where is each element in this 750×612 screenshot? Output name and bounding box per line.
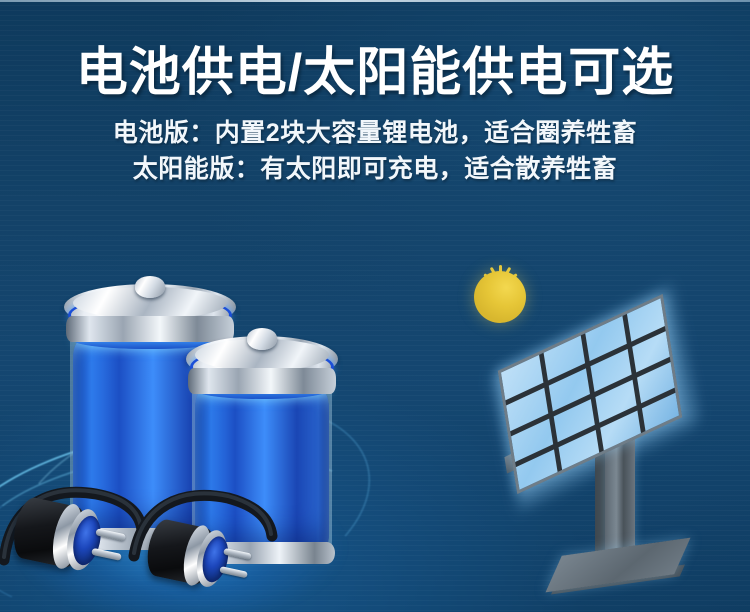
cap-collar xyxy=(188,368,336,394)
battery-small-cap xyxy=(186,330,338,392)
sun-disc xyxy=(474,271,526,323)
subtitle-solar-version: 太阳能版：有太阳即可充电，适合散养牲畜 xyxy=(0,152,750,188)
sun-icon xyxy=(455,252,545,342)
solar-panel-icon xyxy=(495,330,730,595)
battery-terminal-nub xyxy=(247,328,277,350)
subtitle-battery-version: 电池版：内置2块大容量锂电池，适合圈养牲畜 xyxy=(0,102,750,152)
poster-text-block: 电池供电/太阳能供电可选 电池版：内置2块大容量锂电池，适合圈养牲畜 太阳能版：… xyxy=(0,0,750,187)
battery-terminal-nub xyxy=(135,276,165,298)
page-title: 电池供电/太阳能供电可选 xyxy=(0,0,750,102)
product-feature-poster: 电池供电/太阳能供电可选 电池版：内置2块大容量锂电池，适合圈养牲畜 太阳能版：… xyxy=(0,0,750,612)
